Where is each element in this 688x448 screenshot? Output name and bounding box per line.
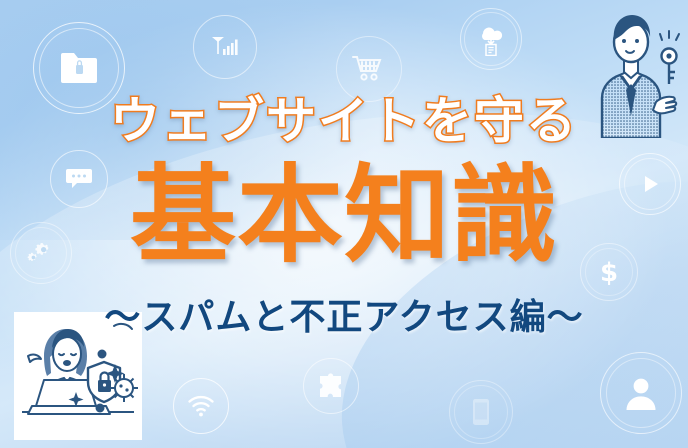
subtitle: 〜スパムと不正アクセス編〜 <box>0 300 688 336</box>
headline-group: ウェブサイトを守る 基本知識 〜スパムと不正アクセス編〜 <box>0 0 688 448</box>
headline-line-1: ウェブサイトを守る <box>0 96 688 146</box>
banner-hero: $ <box>0 0 688 448</box>
headline-line-2: 基本知識 <box>0 160 688 271</box>
